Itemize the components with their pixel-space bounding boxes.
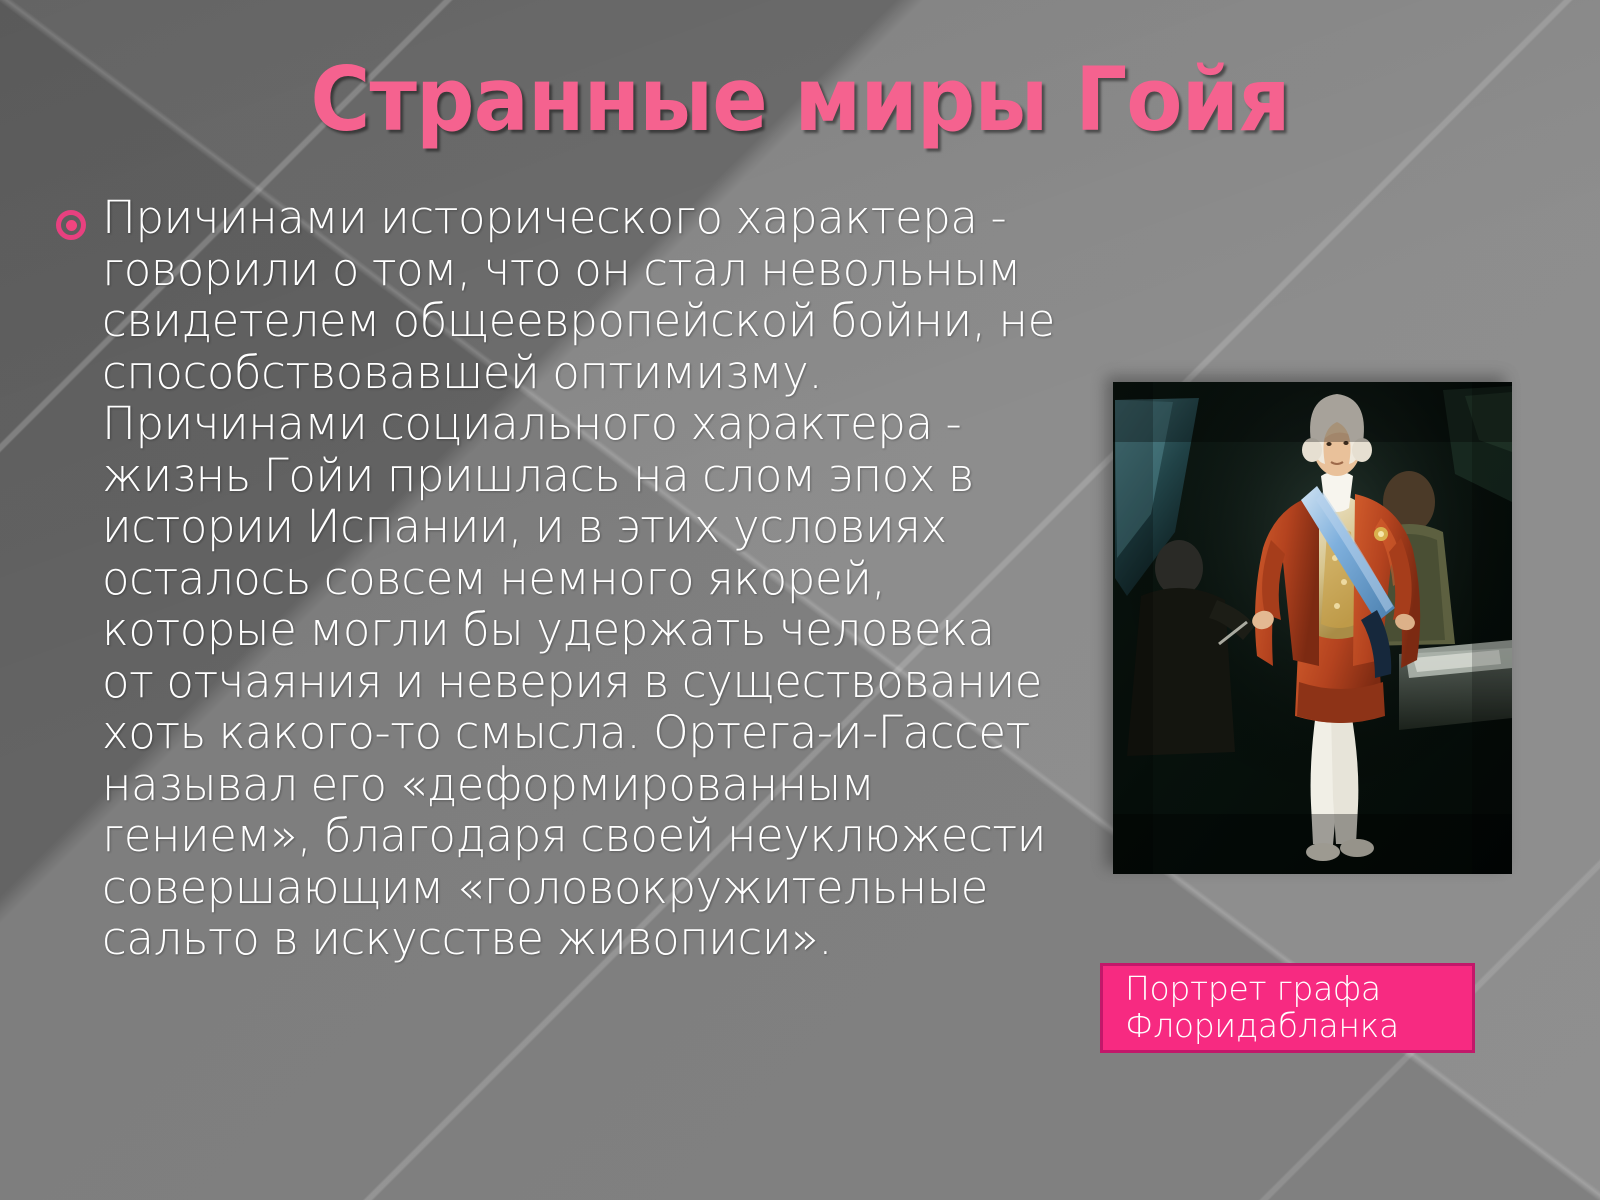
image-caption-box: Портрет графа Флоридабланка [1100, 963, 1475, 1053]
slide-title: Странные миры Гойя [56, 52, 1544, 147]
body-bullet-item: Причинами исторического характера - гово… [56, 192, 1056, 965]
presentation-slide: Странные миры Гойя Причинами историческо… [0, 0, 1600, 1200]
image-caption-text: Портрет графа Флоридабланка [1125, 971, 1399, 1045]
ring-bullet-icon [56, 210, 86, 240]
painting-image [1113, 382, 1512, 874]
portrait-of-count-floridablanca-artwork [1113, 382, 1512, 874]
body-paragraph: Причинами исторического характера - гово… [102, 192, 1056, 965]
